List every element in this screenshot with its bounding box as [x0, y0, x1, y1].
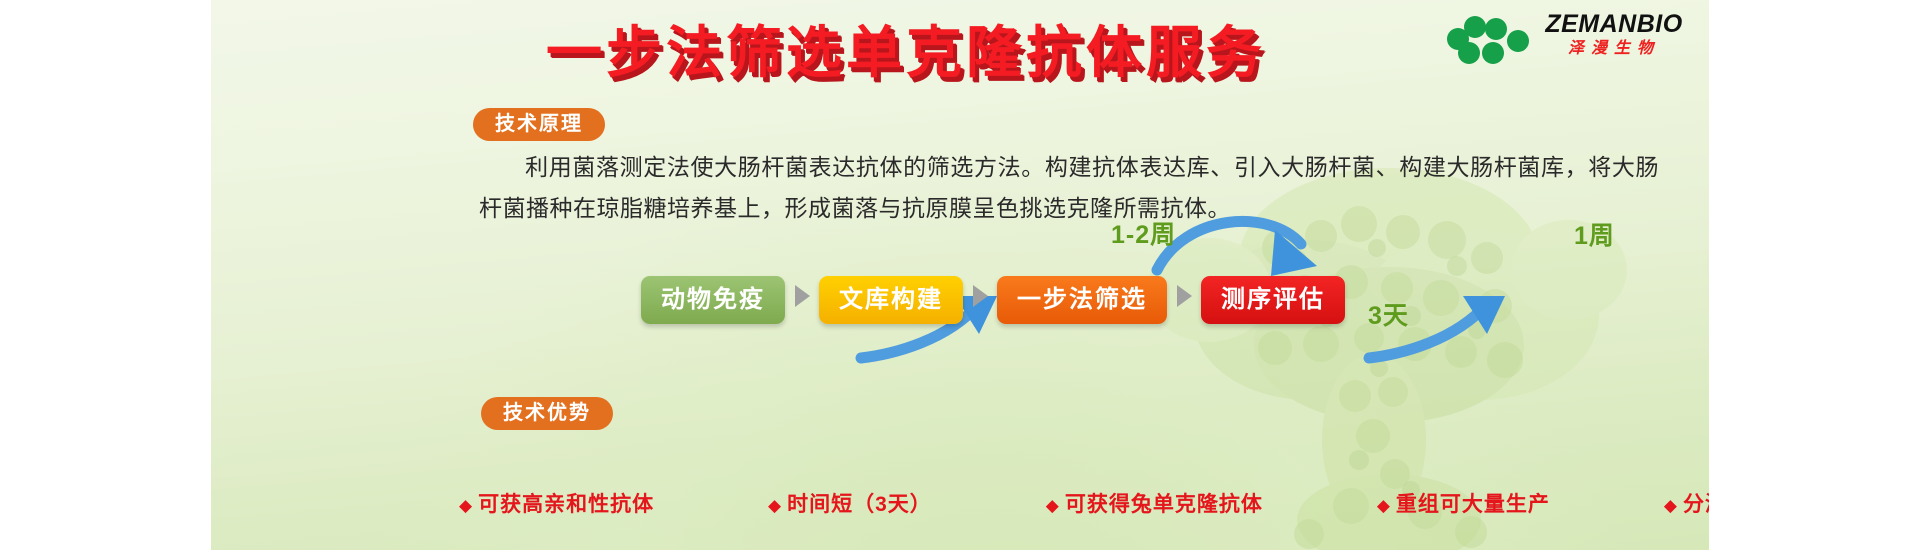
duration-label-1-week: 1周 [1574, 216, 1615, 252]
section-badge-principle: 技术原理 [473, 108, 605, 141]
diamond-bullet-icon: ◆ [1046, 496, 1060, 515]
flow-step-animal-immunization[interactable]: 动物免疫 [641, 276, 785, 324]
poster-canvas: 一步法筛选单克隆抗体服务 ZEMANBIO 泽漫生物 技术原理 利用菌落测定法使… [0, 0, 1920, 550]
logo-name-en: ZEMANBIO [1539, 10, 1689, 38]
workflow-flowchart: 动物免疫 文库构建 一步法筛选 测序评估 [641, 275, 1345, 325]
paragraph-text: 利用菌落测定法使大肠杆菌表达抗体的筛选方法。构建抗体表达库、引入大肠杆菌、构建大… [479, 155, 1659, 222]
flow-step-library-construction[interactable]: 文库构建 [819, 276, 963, 324]
logo-dots-icon [1447, 16, 1533, 64]
duration-label-3-days: 3天 [1368, 296, 1409, 332]
advantage-label: 重组可大量生产 [1396, 493, 1550, 516]
logo-name-cn: 泽漫生物 [1539, 38, 1689, 60]
flow-separator-arrow-icon-3 [1167, 276, 1201, 324]
content-panel: 一步法筛选单克隆抗体服务 ZEMANBIO 泽漫生物 技术原理 利用菌落测定法使… [211, 0, 1709, 550]
advantage-item: ◆可获得兔单克隆抗体 [1046, 488, 1263, 518]
flow-step-sequencing-evaluation[interactable]: 测序评估 [1201, 276, 1345, 324]
advantage-item: ◆可获高亲和性抗体 [459, 488, 654, 518]
advantage-label: 时间短（3天） [787, 493, 932, 516]
principle-paragraph: 利用菌落测定法使大肠杆菌表达抗体的筛选方法。构建抗体表达库、引入大肠杆菌、构建大… [479, 148, 1659, 230]
advantage-label: 分泌型菌体易纯化 [1683, 493, 1709, 516]
diamond-bullet-icon: ◆ [459, 496, 473, 515]
diamond-bullet-icon: ◆ [1377, 496, 1391, 515]
logo-text: ZEMANBIO 泽漫生物 [1539, 10, 1689, 60]
duration-label-1-2-weeks: 1-2周 [1111, 215, 1176, 251]
company-logo: ZEMANBIO 泽漫生物 [1447, 10, 1693, 68]
flow-separator-arrow-icon-1 [785, 276, 819, 324]
page-title: 一步法筛选单克隆抗体服务 [211, 8, 1601, 89]
section-badge-advantage: 技术优势 [481, 397, 613, 430]
flow-step-one-step-screening[interactable]: 一步法筛选 [997, 276, 1167, 324]
diamond-bullet-icon: ◆ [768, 496, 782, 515]
advantage-label: 可获得兔单克隆抗体 [1065, 493, 1263, 516]
advantage-item: ◆重组可大量生产 [1377, 488, 1550, 518]
advantage-item: ◆分泌型菌体易纯化 [1664, 488, 1709, 518]
diamond-bullet-icon: ◆ [1664, 496, 1678, 515]
advantage-label: 可获高亲和性抗体 [478, 493, 654, 516]
advantages-list: ◆可获高亲和性抗体 ◆时间短（3天） ◆可获得兔单克隆抗体 ◆重组可大量生产 ◆… [459, 488, 1709, 518]
flow-separator-arrow-icon-2 [963, 276, 997, 324]
advantage-item: ◆时间短（3天） [768, 488, 932, 518]
